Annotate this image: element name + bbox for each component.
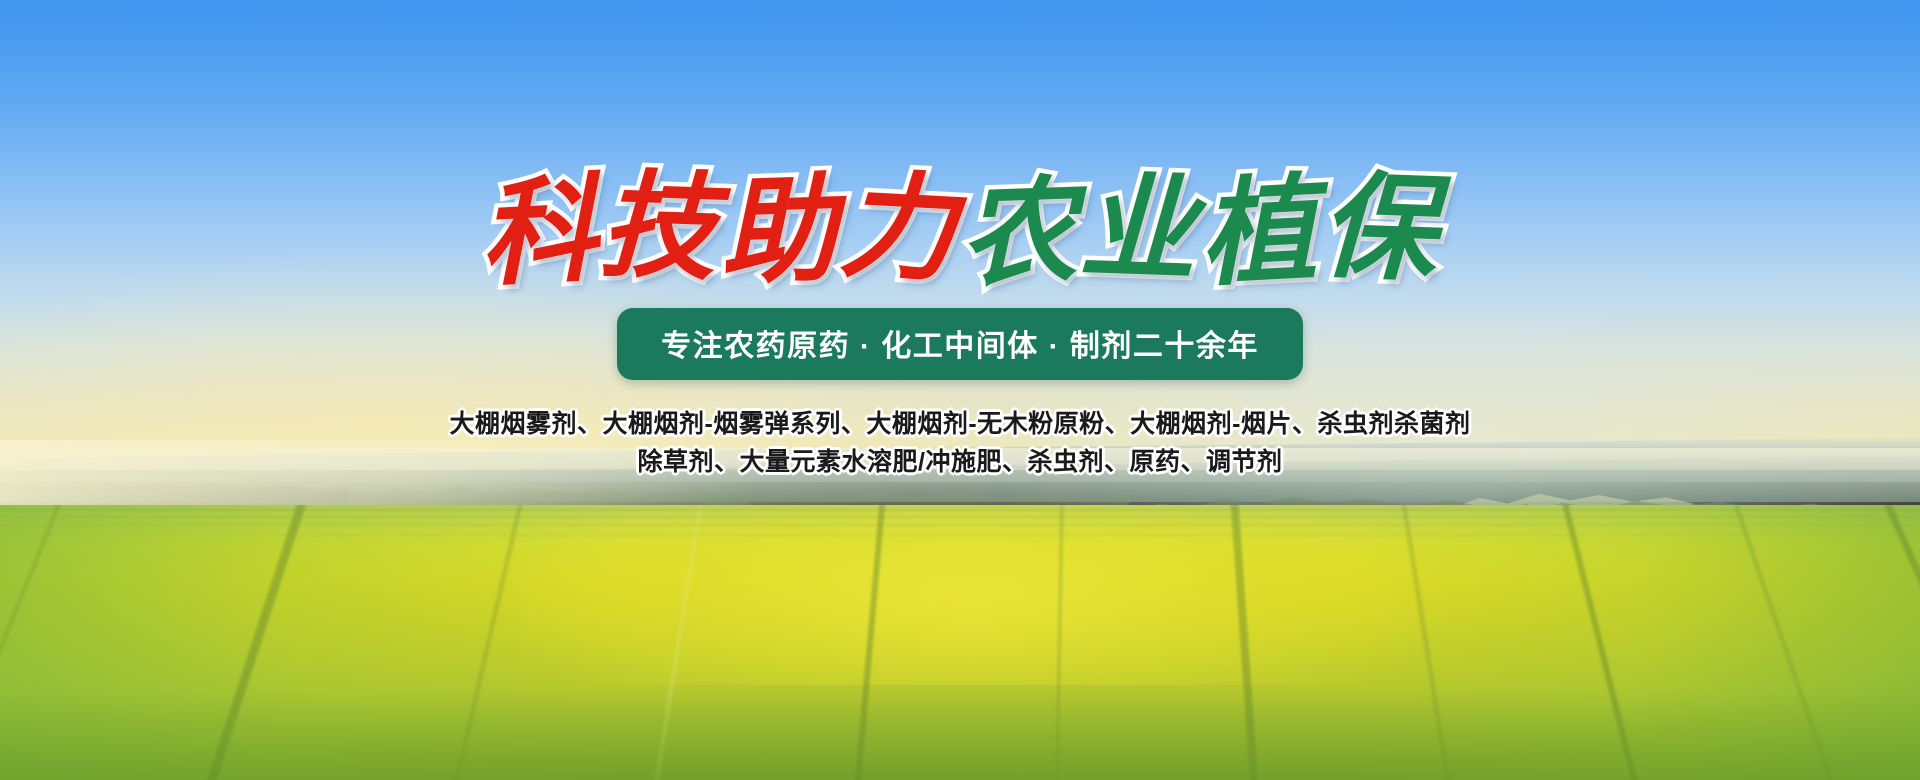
hero-banner: 科技助力农业植保 专注农药原药 · 化工中间体 · 制剂二十余年 大棚烟雾剂、大… — [0, 0, 1920, 780]
headline-char-4: 力 — [837, 163, 963, 294]
headline-char-6: 业 — [1078, 165, 1202, 294]
headline-char-1: 科 — [477, 167, 603, 298]
headline-char-7: 植 — [1197, 167, 1323, 298]
field-seam — [0, 509, 1920, 511]
subtitle-pill: 专注农药原药 · 化工中间体 · 制剂二十余年 — [617, 308, 1303, 380]
field-seam — [0, 524, 1920, 526]
subtitle-pill-wrapper: 专注农药原药 · 化工中间体 · 制剂二十余年 — [0, 308, 1920, 380]
headline-char-8: 保 — [1318, 164, 1442, 293]
product-lines: 大棚烟雾剂、大棚烟剂-烟雾弹系列、大棚烟剂-无木粉原粉、大棚烟剂-烟片、杀虫剂杀… — [0, 405, 1920, 481]
field-seam — [0, 516, 1920, 518]
field-seam — [0, 534, 1920, 536]
headline-char-3: 助 — [718, 167, 842, 296]
headline-char-2: 技 — [598, 163, 722, 292]
field-background — [0, 505, 1920, 780]
page-title: 科技助力农业植保 — [0, 168, 1920, 293]
product-line-1: 大棚烟雾剂、大棚烟剂-烟雾弹系列、大棚烟剂-无木粉原粉、大棚烟剂-烟片、杀虫剂杀… — [0, 405, 1920, 443]
headline-char-5: 农 — [958, 169, 1082, 298]
field-foreground-shade — [0, 690, 1920, 780]
product-line-2: 除草剂、大量元素水溶肥/冲施肥、杀虫剂、原药、调节剂 — [0, 443, 1920, 481]
field-bright-center — [520, 505, 1420, 685]
